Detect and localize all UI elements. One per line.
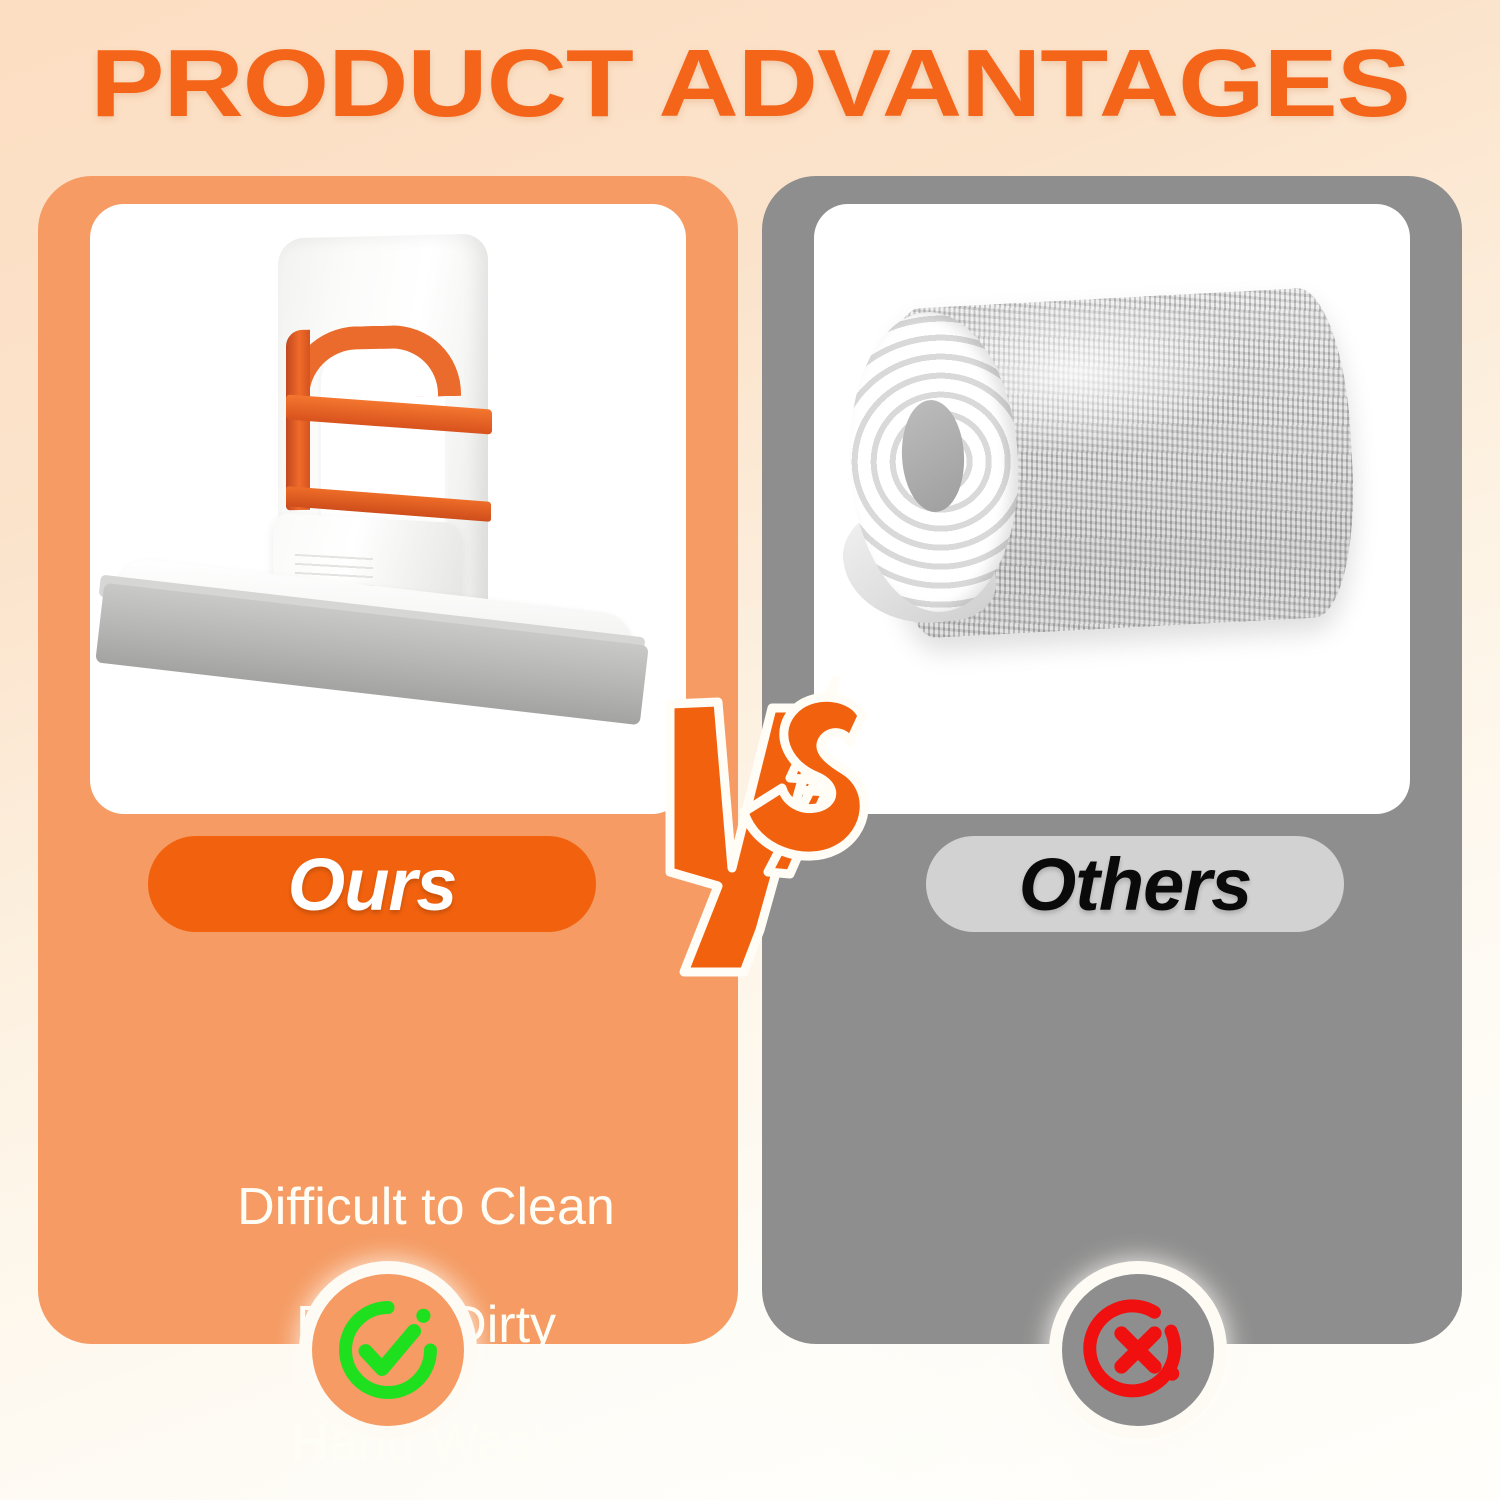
feature-item: Difficult to Clean: [76, 1148, 776, 1266]
rolled-microfiber-cloth-illustration: [814, 204, 1410, 814]
x-circle-icon: [1062, 1274, 1214, 1426]
page-title: PRODUCT ADVANTAGES: [0, 34, 1500, 134]
vs-badge: [640, 672, 880, 972]
folding-squeegee-mop-illustration: [90, 204, 686, 814]
label-pill-ours: Ours: [148, 836, 596, 932]
check-circle-icon: [312, 1274, 464, 1426]
label-pill-others: Others: [926, 836, 1344, 932]
product-photo-others: [814, 204, 1410, 814]
product-photo-ours: [90, 204, 686, 814]
comparison-card-ours: Difficult to Clean Easily Dirty Hand Was…: [38, 176, 738, 1344]
product-advantages-infographic: PRODUCT ADVANTAGES: [0, 0, 1500, 1500]
